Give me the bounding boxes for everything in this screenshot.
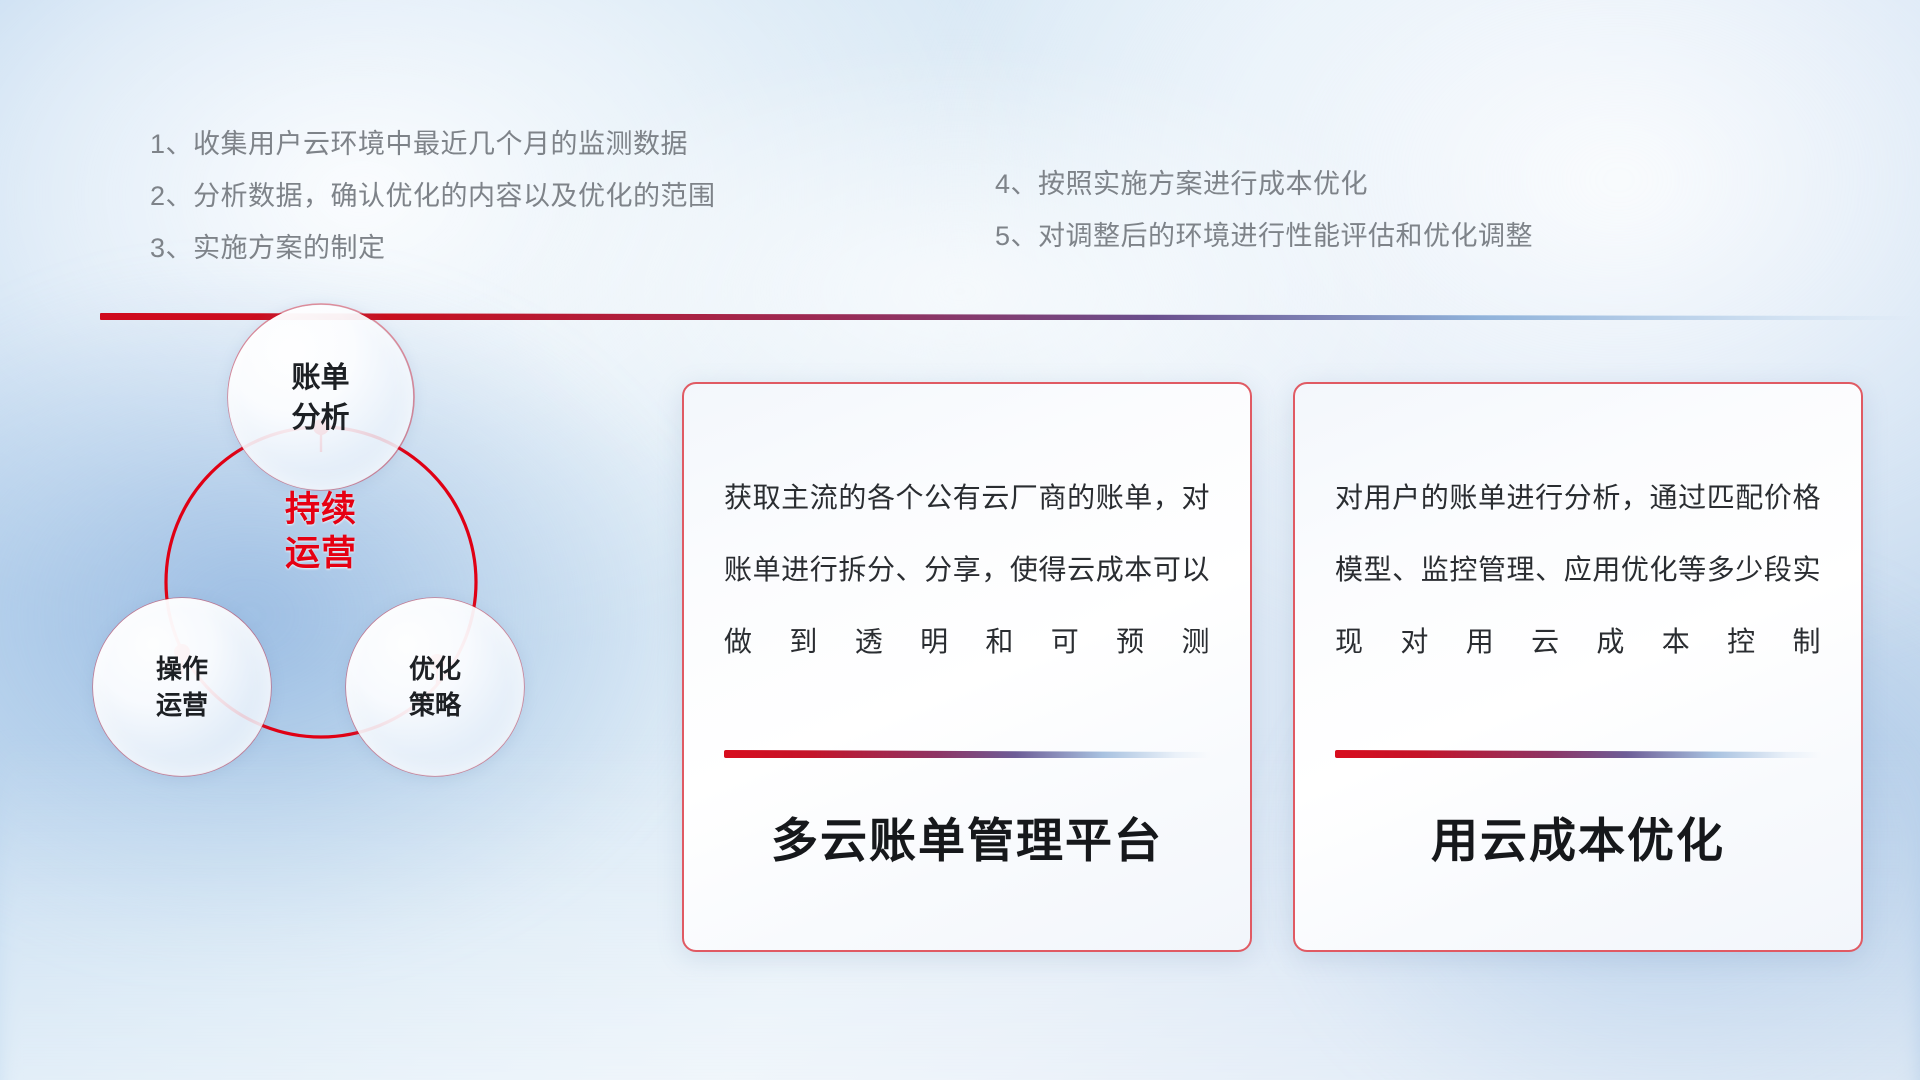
bubble-optimization-strategy-label: 优化 策略 bbox=[409, 651, 461, 723]
bubble-bill-analysis-line1: 账单 bbox=[291, 362, 349, 394]
bubble-bill-analysis-line2: 分析 bbox=[291, 402, 349, 434]
step-item-2: 2、分析数据，确认优化的内容以及优化的范围 bbox=[150, 170, 716, 222]
step-item-1: 1、收集用户云环境中最近几个月的监测数据 bbox=[150, 118, 716, 170]
step-item-5: 5、对调整后的环境进行性能评估和优化调整 bbox=[995, 210, 1533, 262]
card-cloud-cost-optimization-title: 用云成本优化 bbox=[1295, 802, 1861, 871]
bubble-optimization-strategy[interactable]: 优化 策略 bbox=[346, 598, 524, 776]
bubble-operation-line2: 运营 bbox=[156, 690, 208, 720]
step-item-4: 4、按照实施方案进行成本优化 bbox=[995, 158, 1533, 210]
bubble-optimization-strategy-line2: 策略 bbox=[409, 690, 461, 720]
steps-column-left: 1、收集用户云环境中最近几个月的监测数据 2、分析数据，确认优化的内容以及优化的… bbox=[150, 118, 716, 274]
bubble-operation-label: 操作 运营 bbox=[156, 651, 208, 723]
bubble-bill-analysis-label: 账单 分析 bbox=[291, 358, 349, 438]
card-multicloud-billing-title: 多云账单管理平台 bbox=[684, 802, 1250, 871]
steps-list: 1、收集用户云环境中最近几个月的监测数据 2、分析数据，确认优化的内容以及优化的… bbox=[150, 118, 1790, 288]
bubble-operation[interactable]: 操作 运营 bbox=[93, 598, 271, 776]
center-label-line2: 运营 bbox=[285, 534, 357, 573]
bubble-optimization-strategy-line1: 优化 bbox=[409, 654, 461, 684]
step-item-3: 3、实施方案的制定 bbox=[150, 222, 716, 274]
card-multicloud-billing[interactable]: 获取主流的各个公有云厂商的账单，对账单进行拆分、分享，使得云成本可以做到透明和可… bbox=[682, 382, 1252, 952]
steps-column-right: 4、按照实施方案进行成本优化 5、对调整后的环境进行性能评估和优化调整 bbox=[995, 158, 1533, 262]
bubble-bill-analysis[interactable]: 账单 分析 bbox=[228, 305, 413, 490]
card-cloud-cost-optimization[interactable]: 对用户的账单进行分析，通过匹配价格模型、监控管理、应用优化等多少段实现对用云成本… bbox=[1293, 382, 1863, 952]
center-label-line1: 持续 bbox=[285, 490, 357, 529]
continuous-operation-diagram: 账单 分析 操作 运营 优化 策略 持续 运营 bbox=[95, 340, 635, 940]
card-multicloud-billing-body: 获取主流的各个公有云厂商的账单，对账单进行拆分、分享，使得云成本可以做到透明和可… bbox=[724, 462, 1210, 678]
slide-canvas: 1、收集用户云环境中最近几个月的监测数据 2、分析数据，确认优化的内容以及优化的… bbox=[0, 0, 1920, 1080]
diagram-center-label: 持续 运营 bbox=[226, 488, 416, 576]
card-cloud-cost-optimization-body: 对用户的账单进行分析，通过匹配价格模型、监控管理、应用优化等多少段实现对用云成本… bbox=[1335, 462, 1821, 678]
bubble-operation-line1: 操作 bbox=[156, 654, 208, 684]
